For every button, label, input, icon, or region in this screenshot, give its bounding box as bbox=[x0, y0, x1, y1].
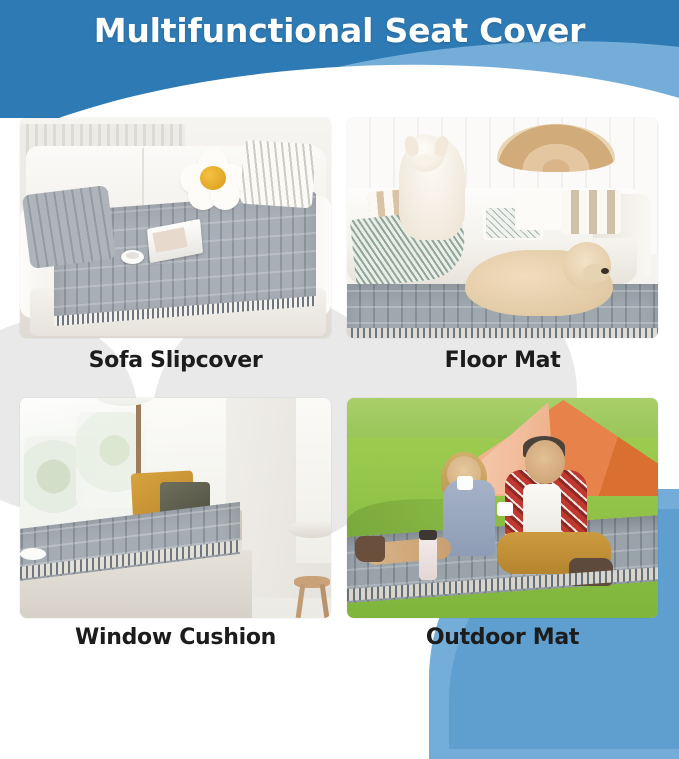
man-head bbox=[525, 440, 565, 484]
floor-mat-fringe bbox=[347, 328, 658, 338]
water-bottle bbox=[419, 534, 437, 580]
teacup bbox=[126, 252, 139, 259]
small-saucer bbox=[20, 548, 46, 560]
panel-floor-mat bbox=[347, 118, 658, 338]
label-floor-mat: Floor Mat bbox=[347, 348, 658, 373]
panel-window-cushion bbox=[20, 398, 331, 618]
striped-throw-pillow bbox=[240, 140, 316, 209]
photo-sofa-slipcover bbox=[20, 118, 331, 338]
panel-sofa-slipcover bbox=[20, 118, 331, 338]
panel-outdoor-mat bbox=[347, 398, 658, 618]
dog-sitting-snout bbox=[417, 154, 433, 166]
dog-lying-nose bbox=[601, 268, 609, 274]
water-bottle-cap bbox=[419, 530, 437, 540]
flower-pillow-center bbox=[200, 166, 226, 190]
photo-window-cushion bbox=[20, 398, 331, 618]
woman-body bbox=[443, 480, 495, 556]
use-case-grid: Sofa Slipcover Floor Mat Window Cushion … bbox=[0, 0, 679, 679]
woman-cup bbox=[457, 476, 473, 490]
photo-floor-mat bbox=[347, 118, 658, 338]
side-table bbox=[288, 520, 331, 538]
woman-boot bbox=[355, 536, 385, 562]
flower-pillow bbox=[180, 148, 246, 210]
photo-outdoor-mat bbox=[347, 398, 658, 618]
label-window-cushion: Window Cushion bbox=[20, 625, 331, 650]
striped-pillow-right bbox=[561, 190, 621, 234]
label-outdoor-mat: Outdoor Mat bbox=[347, 625, 658, 650]
man-cup bbox=[497, 502, 513, 516]
interior-wall-lit bbox=[296, 398, 331, 563]
gray-striped-pillow bbox=[22, 185, 116, 269]
label-sofa-slipcover: Sofa Slipcover bbox=[20, 348, 331, 373]
